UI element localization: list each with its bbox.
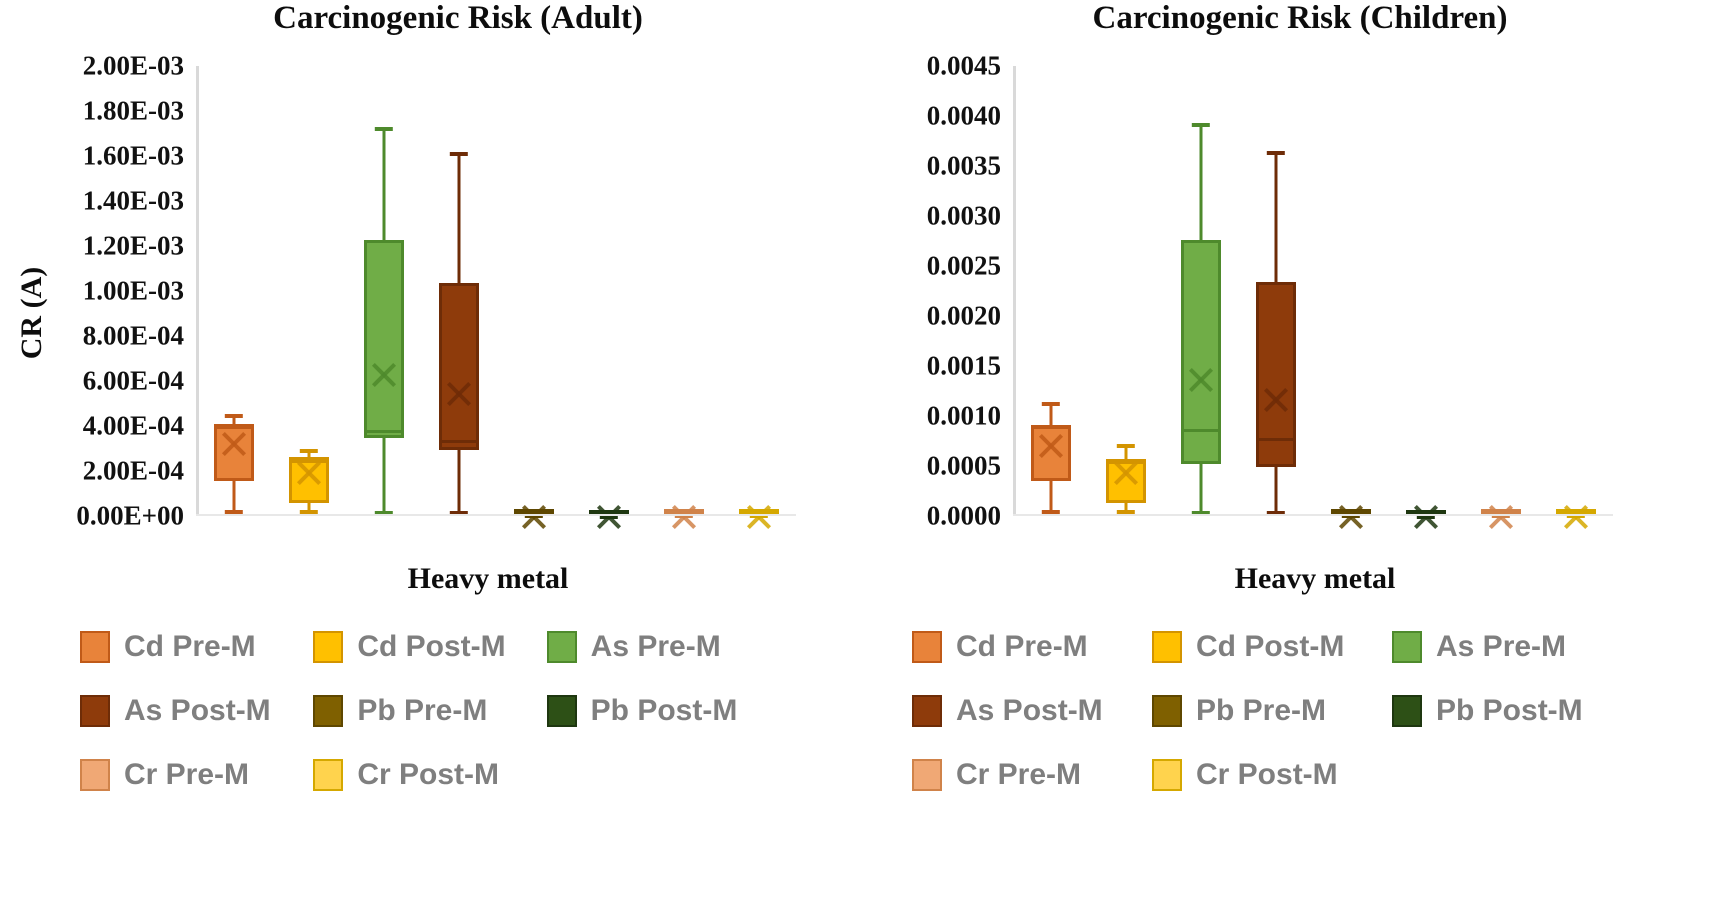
mean-marker-x-icon <box>219 427 249 457</box>
legend-swatch-icon <box>313 631 343 663</box>
legend-item[interactable]: As Pre-M <box>1392 630 1632 664</box>
whisker-lower <box>1199 464 1202 516</box>
box-plot-series[interactable] <box>289 66 329 516</box>
x-axis-line-children <box>1013 514 1613 516</box>
legend-children: Cd Pre-MCd Post-MAs Pre-MAs Post-MPb Pre… <box>912 630 1632 792</box>
plot-canvas-children <box>1013 66 1613 516</box>
x-axis-line-adult <box>196 514 796 516</box>
legend-item-label: Cd Pre-M <box>956 630 1088 664</box>
chart-panel-adult: Carcinogenic Risk (Adult) CR (A) 2.00E-0… <box>0 0 856 897</box>
legend-swatch-icon <box>547 695 577 727</box>
y-tick-label: 0.0035 <box>927 151 1001 182</box>
box-iqr[interactable] <box>364 240 404 438</box>
whisker-cap-upper <box>374 127 392 131</box>
mean-marker-x-icon <box>1111 456 1141 486</box>
median-line <box>1256 438 1296 441</box>
whisker-cap-upper <box>224 414 242 418</box>
box-plot-series[interactable] <box>589 66 629 516</box>
y-tick-label: 0.0000 <box>927 501 1001 532</box>
plot-canvas-adult <box>196 66 796 516</box>
legend-item[interactable]: As Post-M <box>80 694 313 728</box>
legend-swatch-icon <box>1152 759 1182 791</box>
median-line <box>1031 425 1071 428</box>
y-tick-label: 0.0010 <box>927 401 1001 432</box>
legend-swatch-icon <box>313 695 343 727</box>
legend-item-label: Cr Post-M <box>357 758 499 792</box>
legend-swatch-icon <box>1152 695 1182 727</box>
y-tick-label: 1.80E-03 <box>83 96 184 127</box>
chart-title-adult: Carcinogenic Risk (Adult) <box>0 0 856 37</box>
mean-marker-x-icon <box>1261 383 1291 413</box>
whisker-cap-upper <box>1191 123 1209 127</box>
legend-item-label: As Pre-M <box>591 630 721 664</box>
x-axis-label-children: Heavy metal <box>857 562 1713 596</box>
box-plot-series[interactable] <box>1331 66 1371 516</box>
legend-item-label: Cr Pre-M <box>124 758 249 792</box>
whisker-upper <box>382 127 385 241</box>
legend-swatch-icon <box>313 759 343 791</box>
box-plot-series[interactable] <box>1256 66 1296 516</box>
whisker-cap-upper <box>299 449 317 453</box>
legend-item[interactable]: Cd Pre-M <box>80 630 313 664</box>
legend-item-label: As Post-M <box>124 694 271 728</box>
y-tick-label: 8.00E-04 <box>83 321 184 352</box>
legend-item[interactable]: As Pre-M <box>547 630 780 664</box>
plot-area-adult: 2.00E-031.80E-031.60E-031.40E-031.20E-03… <box>196 66 796 516</box>
box-plot-series[interactable] <box>1556 66 1596 516</box>
x-axis-label-adult: Heavy metal <box>0 562 856 596</box>
legend-item-label: Pb Pre-M <box>357 694 487 728</box>
box-plot-series[interactable] <box>1031 66 1071 516</box>
legend-item-label: Pb Pre-M <box>1196 694 1326 728</box>
legend-item-label: Pb Post-M <box>1436 694 1583 728</box>
legend-item[interactable]: Pb Post-M <box>547 694 780 728</box>
whisker-lower <box>457 450 460 515</box>
legend-item[interactable]: Cd Post-M <box>313 630 546 664</box>
legend-item-label: Cd Pre-M <box>124 630 256 664</box>
legend-item-label: Cr Post-M <box>1196 758 1338 792</box>
y-tick-label: 6.00E-04 <box>83 366 184 397</box>
legend-item-label: Pb Post-M <box>591 694 738 728</box>
y-tick-label: 0.0025 <box>927 251 1001 282</box>
legend-adult: Cd Pre-MCd Post-MAs Pre-MAs Post-MPb Pre… <box>80 630 780 792</box>
legend-item[interactable]: Cr Pre-M <box>80 758 313 792</box>
whisker-lower <box>1274 467 1277 515</box>
legend-item[interactable]: Cd Pre-M <box>912 630 1152 664</box>
legend-item[interactable]: Pb Post-M <box>1392 694 1632 728</box>
y-tick-label: 0.0005 <box>927 451 1001 482</box>
median-line <box>439 440 479 443</box>
mean-marker-x-icon <box>1186 363 1216 393</box>
y-tick-label: 1.00E-03 <box>83 276 184 307</box>
legend-swatch-icon <box>80 759 110 791</box>
whisker-cap-upper <box>1266 151 1284 155</box>
legend-item[interactable]: Pb Pre-M <box>1152 694 1392 728</box>
y-tick-label: 4.00E-04 <box>83 411 184 442</box>
legend-swatch-icon <box>912 631 942 663</box>
median-line <box>364 430 404 433</box>
legend-swatch-icon <box>547 631 577 663</box>
box-plot-series[interactable] <box>1406 66 1446 516</box>
y-tick-label: 0.0020 <box>927 301 1001 332</box>
whisker-lower <box>1049 481 1052 515</box>
y-axis-label-adult: CR (A) <box>15 267 49 359</box>
legend-item-label: Cr Pre-M <box>956 758 1081 792</box>
box-plot-series[interactable] <box>364 66 404 516</box>
y-tick-label: 0.0045 <box>927 51 1001 82</box>
whisker-cap-upper <box>449 152 467 156</box>
y-tick-label: 1.20E-03 <box>83 231 184 262</box>
legend-item-label: As Pre-M <box>1436 630 1566 664</box>
legend-item[interactable]: As Post-M <box>912 694 1152 728</box>
whisker-upper <box>457 152 460 284</box>
legend-swatch-icon <box>1152 631 1182 663</box>
legend-swatch-icon <box>1392 631 1422 663</box>
legend-swatch-icon <box>1392 695 1422 727</box>
legend-item[interactable]: Cr Pre-M <box>912 758 1152 792</box>
chart-panel-children: Carcinogenic Risk (Children) CR (C) 0.00… <box>857 0 1713 897</box>
y-axis-line-children <box>1013 66 1016 516</box>
legend-swatch-icon <box>80 631 110 663</box>
box-plot-series[interactable] <box>1106 66 1146 516</box>
legend-item-label: Cd Post-M <box>1196 630 1344 664</box>
median-line <box>1181 429 1221 432</box>
box-iqr[interactable] <box>439 283 479 450</box>
legend-item[interactable]: Cd Post-M <box>1152 630 1392 664</box>
mean-marker-x-icon <box>1036 429 1066 459</box>
whisker-upper <box>1274 151 1277 282</box>
y-tick-label: 1.60E-03 <box>83 141 184 172</box>
legend-swatch-icon <box>912 695 942 727</box>
mean-marker-x-icon <box>294 456 324 486</box>
whisker-lower <box>382 438 385 515</box>
legend-item[interactable]: Cr Post-M <box>1152 758 1392 792</box>
y-tick-label: 1.40E-03 <box>83 186 184 217</box>
box-plot-series[interactable] <box>664 66 704 516</box>
y-tick-label: 0.0015 <box>927 351 1001 382</box>
y-tick-label: 0.00E+00 <box>76 501 184 532</box>
legend-item[interactable]: Pb Pre-M <box>313 694 546 728</box>
whisker-cap-upper <box>1041 402 1059 406</box>
chart-title-children: Carcinogenic Risk (Children) <box>857 0 1713 37</box>
y-tick-label: 0.0040 <box>927 101 1001 132</box>
whisker-cap-upper <box>1116 444 1134 448</box>
box-plot-series[interactable] <box>739 66 779 516</box>
box-plot-series[interactable] <box>214 66 254 516</box>
legend-item[interactable]: Cr Post-M <box>313 758 546 792</box>
y-tick-label: 2.00E-03 <box>83 51 184 82</box>
y-axis-line-adult <box>196 66 199 516</box>
legend-swatch-icon <box>912 759 942 791</box>
plot-area-children: 0.00450.00400.00350.00300.00250.00200.00… <box>1013 66 1613 516</box>
mean-marker-x-icon <box>444 377 474 407</box>
box-plot-series[interactable] <box>439 66 479 516</box>
y-tick-label: 2.00E-04 <box>83 456 184 487</box>
figure-root: Carcinogenic Risk (Adult) CR (A) 2.00E-0… <box>0 0 1713 897</box>
y-tick-label: 0.0030 <box>927 201 1001 232</box>
legend-item-label: Cd Post-M <box>357 630 505 664</box>
whisker-upper <box>1199 123 1202 240</box>
box-plot-series[interactable] <box>1181 66 1221 516</box>
legend-swatch-icon <box>80 695 110 727</box>
legend-item-label: As Post-M <box>956 694 1103 728</box>
box-plot-series[interactable] <box>514 66 554 516</box>
box-plot-series[interactable] <box>1481 66 1521 516</box>
mean-marker-x-icon <box>369 358 399 388</box>
